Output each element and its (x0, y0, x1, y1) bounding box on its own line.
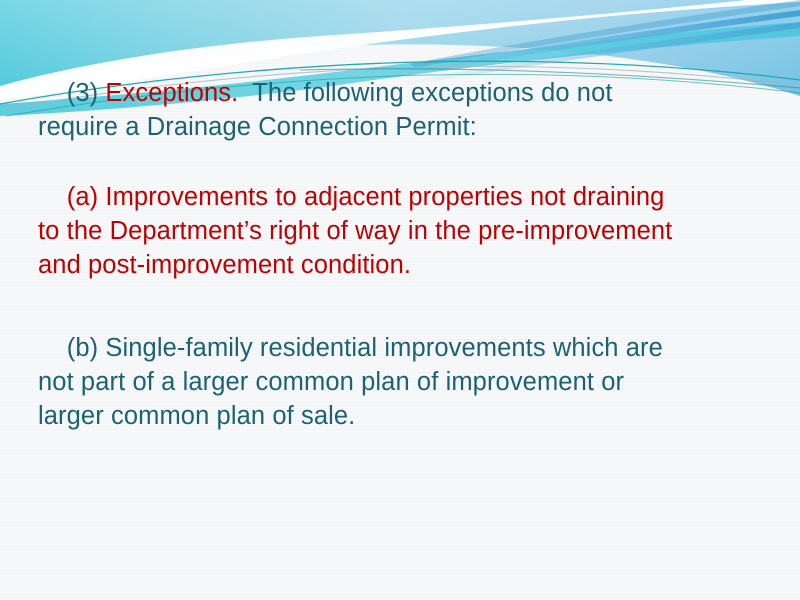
paragraph-exceptions-intro: (3) Exceptions. The following exceptions… (0, 76, 647, 144)
run-exceptions-heading: Exceptions. (105, 79, 238, 107)
paragraph-exception-a: (a) Improvements to adjacent properties … (0, 180, 706, 282)
run-number-3: (3) (38, 79, 105, 107)
run-exception-b-body: (b) Single-family residential improvemen… (38, 334, 663, 430)
slide-canvas: (3) Exceptions. The following exceptions… (0, 0, 800, 600)
paragraph-exception-b: (b) Single-family residential improvemen… (0, 331, 697, 433)
run-exception-a-body: (a) Improvements to adjacent properties … (38, 183, 672, 279)
